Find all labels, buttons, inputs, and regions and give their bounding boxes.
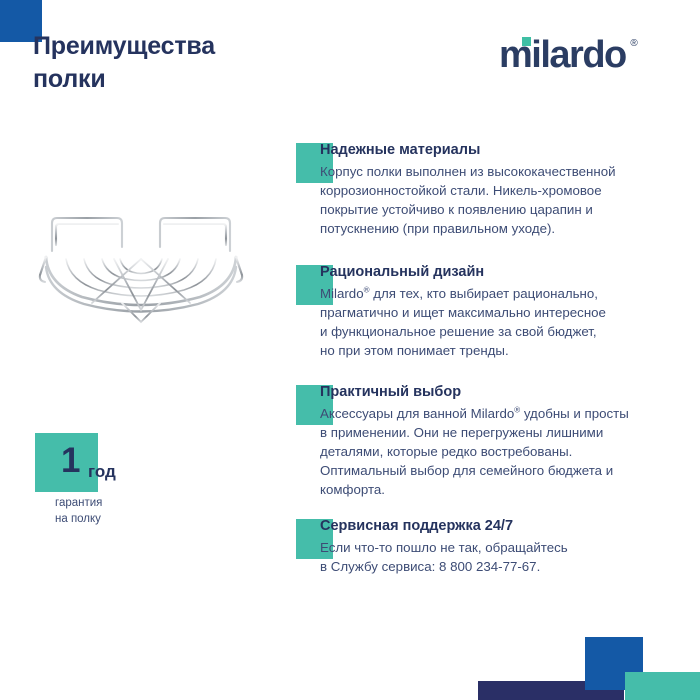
- feature-block-materials: Надежные материалы Корпус полки выполнен…: [296, 141, 686, 238]
- product-image-corner-shelf: [22, 185, 260, 335]
- feature-title: Рациональный дизайн: [320, 263, 686, 282]
- feature-text: Если что-то пошло не так, обращайтесь в …: [320, 538, 686, 576]
- feature-text-brand: Аксессуары для ванной Milardo: [320, 406, 514, 421]
- page-title: Преимущества полки: [33, 30, 293, 96]
- feature-title: Надежные материалы: [320, 141, 686, 160]
- feature-block-service-support: Сервисная поддержка 24/7 Если что-то пош…: [296, 517, 686, 576]
- brand-i-dot-icon: [522, 37, 531, 46]
- feature-text: Аксессуары для ванной Milardo® удобны и …: [320, 404, 686, 500]
- feature-block-practical-choice: Практичный выбор Аксессуары для ванной M…: [296, 383, 686, 500]
- warranty-number: 1: [61, 443, 80, 478]
- feature-text: Milardo® для тех, кто выбирает рациональ…: [320, 284, 686, 361]
- registered-trademark-icon: ®: [630, 38, 637, 49]
- warranty-badge: 1 год гарантия на полку: [35, 433, 185, 513]
- corner-accent-teal-square: [625, 672, 700, 700]
- warranty-unit-label: год: [88, 463, 116, 480]
- brand-logo: milardo ®: [499, 36, 626, 74]
- brand-wordmark-text: milardo: [499, 36, 626, 74]
- warranty-subtitle: гарантия на полку: [55, 496, 102, 527]
- feature-block-design: Рациональный дизайн Milardo® для тех, кт…: [296, 263, 686, 360]
- feature-text: Корпус полки выполнен из высококачествен…: [320, 162, 686, 239]
- feature-title: Сервисная поддержка 24/7: [320, 517, 686, 536]
- feature-title: Практичный выбор: [320, 383, 686, 402]
- feature-text-brand: Milardo: [320, 286, 364, 301]
